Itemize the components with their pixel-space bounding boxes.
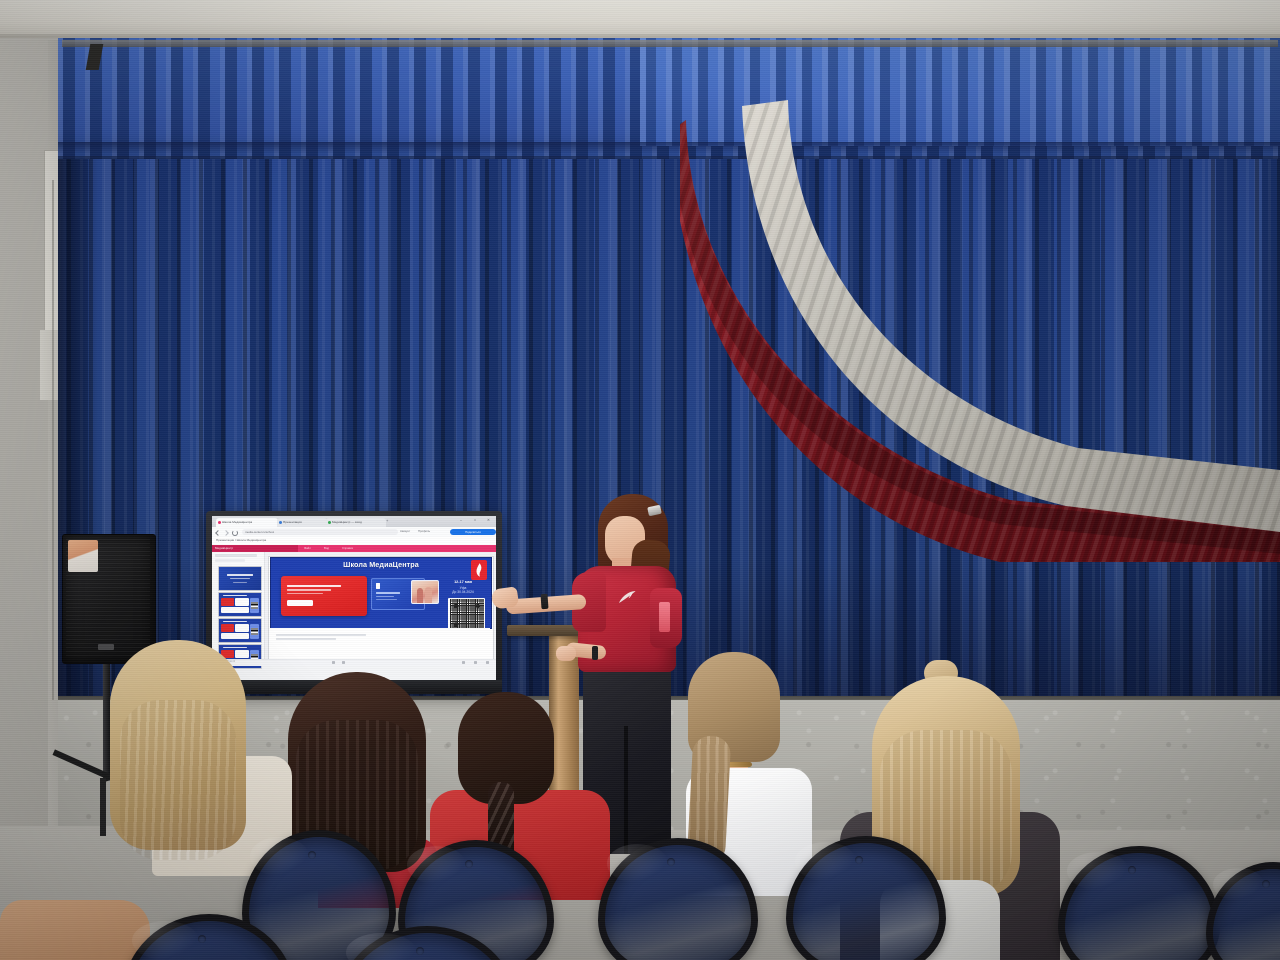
- browser-tab-label: Презентация: [283, 521, 302, 524]
- tab-favicon-icon: [328, 521, 331, 524]
- browser-tab-label: МедиаЦентр — вход: [332, 521, 362, 524]
- speaker-sticker: [68, 540, 98, 572]
- app-brand-label: МедиаЦентр: [215, 547, 233, 550]
- fullscreen-icon[interactable]: [486, 661, 489, 664]
- speaker-brand-badge: [98, 644, 114, 650]
- window-minimize-button[interactable]: –: [460, 519, 462, 523]
- browser-tab-1[interactable]: Школа МедиаЦентра: [216, 518, 278, 527]
- new-tab-button[interactable]: +: [386, 519, 388, 523]
- view-grid-icon[interactable]: [332, 661, 335, 664]
- slide-date-deadline: До 30.04.2024: [452, 590, 474, 594]
- slide-content[interactable]: Школа МедиаЦентра: [270, 557, 492, 629]
- assembly-hall-photo: Школа МедиаЦентра Презентация МедиаЦентр…: [0, 0, 1280, 960]
- browser-tab-label: Школа МедиаЦентра: [222, 521, 252, 524]
- display-screen[interactable]: Школа МедиаЦентра Презентация МедиаЦентр…: [212, 516, 496, 680]
- share-button-label: Поделиться: [465, 531, 480, 534]
- browser-tab-2[interactable]: Презентация: [277, 518, 327, 527]
- zoom-in-icon[interactable]: [474, 661, 477, 664]
- slide-date-city: Уфа: [460, 586, 467, 590]
- slide-thumb-2[interactable]: [218, 592, 262, 617]
- slide-photo: [411, 580, 439, 604]
- chair-back-5: [1058, 846, 1206, 960]
- zoom-out-icon[interactable]: [462, 661, 465, 664]
- speaker-stand-leg: [100, 778, 106, 836]
- sleeve-accent: [659, 602, 670, 632]
- slide-thumb-1[interactable]: [218, 566, 262, 591]
- account-label[interactable]: Аккаунт: [400, 530, 410, 533]
- chair-back-3: [598, 838, 744, 960]
- breadcrumb[interactable]: Презентации / Школа МедиаЦентра: [216, 539, 266, 542]
- curtain-rail: [62, 40, 1278, 47]
- audience-girl-1-hair-strands: [120, 700, 236, 860]
- share-button[interactable]: Поделиться: [450, 529, 496, 535]
- chair-back-6: [1206, 862, 1280, 960]
- chair-front-2: [336, 926, 504, 960]
- presenter-bracelet: [540, 594, 548, 609]
- reload-icon[interactable]: [232, 530, 238, 536]
- slide-notes-area[interactable]: [270, 628, 490, 659]
- slide-date-block: 12-17 мая Уфа До 30.04.2024: [441, 580, 485, 595]
- address-bar[interactable]: media-center.ru/school: [242, 529, 398, 535]
- speaker-stand-pole: [103, 660, 110, 780]
- app-menu-view[interactable]: Вид: [324, 547, 329, 550]
- qr-code[interactable]: [448, 598, 485, 629]
- app-status-bar: [212, 659, 496, 666]
- slide-card-button: [287, 600, 313, 606]
- view-list-icon[interactable]: [342, 661, 345, 664]
- shirt-flame-logo-icon: [616, 589, 638, 606]
- chair-back-4: [786, 836, 932, 960]
- flame-logo-icon: [471, 560, 487, 580]
- presenter-watch: [592, 646, 598, 660]
- slide-title: Школа МедиаЦентра: [271, 561, 491, 568]
- trouser-seam: [624, 726, 628, 854]
- browser-tab-3[interactable]: МедиаЦентр — вход: [326, 518, 386, 527]
- app-menu-help[interactable]: Справка: [342, 547, 353, 550]
- chair-front-1: [122, 914, 282, 960]
- wall-seam: [52, 180, 54, 700]
- profile-label[interactable]: Профиль: [418, 530, 430, 533]
- address-bar-value: media-center.ru/school: [245, 531, 274, 534]
- tab-favicon-icon: [279, 521, 282, 524]
- app-menu-file[interactable]: Файл: [304, 547, 311, 550]
- window-maximize-button[interactable]: □: [474, 519, 476, 522]
- tab-favicon-icon: [218, 521, 221, 524]
- window-close-button[interactable]: ✕: [487, 519, 490, 522]
- slide-date-days: 12-17 мая: [454, 580, 472, 584]
- presenter-hand-2: [556, 646, 576, 661]
- panel-header: [215, 554, 257, 557]
- slide-thumb-3[interactable]: [218, 618, 262, 643]
- slide-card-red: [281, 576, 367, 616]
- panel-subheader: [215, 559, 245, 562]
- tricolor-swag-drape: [680, 92, 1280, 562]
